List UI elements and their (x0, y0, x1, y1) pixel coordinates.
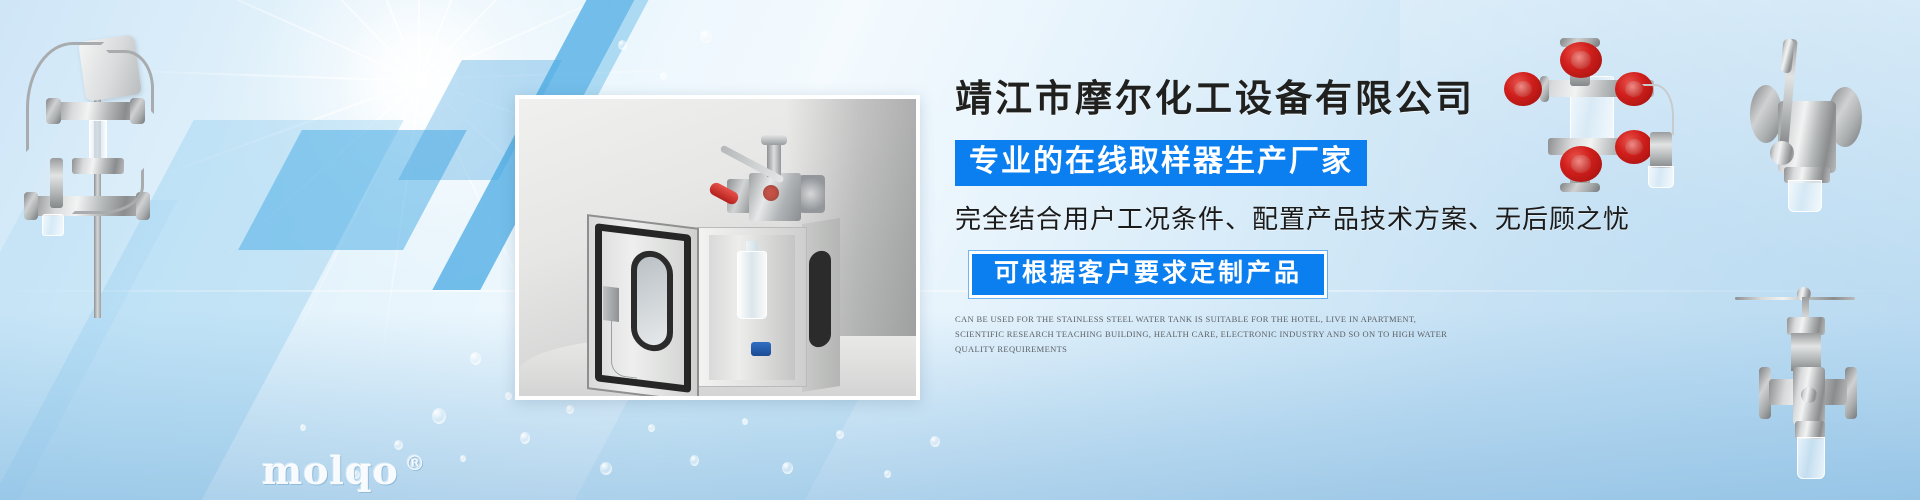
valve-bonnet (1791, 333, 1821, 371)
sample-jar (42, 214, 64, 236)
valve-knob (761, 135, 787, 145)
valve-block-upper (54, 102, 140, 120)
registered-trademark-icon: ® (405, 451, 426, 475)
blue-cap (751, 342, 771, 356)
water-droplet (836, 430, 844, 439)
company-name: 靖江市摩尔化工设备有限公司 (955, 80, 1715, 121)
valve-handle-bar (1735, 297, 1855, 300)
tagline-badge: 专业的在线取样器生产厂家 (955, 140, 1367, 186)
water-droplet (566, 405, 574, 414)
water-droplet (700, 30, 712, 43)
product-pole-mounted-sampler (10, 18, 180, 318)
sight-glass (89, 120, 107, 162)
door-latch (603, 286, 619, 322)
brand-watermark: molqo® (262, 452, 426, 490)
water-droplet (432, 408, 446, 424)
water-droplet (505, 392, 512, 400)
sample-jar (1788, 180, 1822, 212)
water-droplet (884, 470, 891, 478)
water-droplet (930, 436, 940, 447)
product-photo-sampling-cabinet (515, 95, 920, 400)
water-droplet (660, 72, 667, 80)
water-droplet (470, 352, 481, 365)
banner-subtitle: 完全结合用户工况条件、配置产品技术方案、无后顾之忧 (955, 204, 1715, 235)
key-tether (611, 319, 637, 378)
product-lever-sampling-valve (1700, 25, 1910, 235)
water-droplet (600, 462, 612, 475)
valve-badge (1801, 387, 1817, 403)
top-sampling-valve (719, 135, 829, 231)
product-needle-sampling-valve (1745, 275, 1920, 500)
water-droplet (782, 462, 793, 474)
flange (24, 192, 38, 220)
cabinet-side-cutout (809, 249, 831, 348)
english-description: CAN BE USED FOR THE STAINLESS STEEL WATE… (955, 312, 1465, 357)
valve-brand-badge (763, 185, 779, 201)
flange (46, 98, 61, 124)
door-window (631, 248, 673, 353)
custom-product-badge: 可根据客户要求定制产品 (969, 251, 1327, 298)
relief-valve (50, 158, 63, 208)
valve-badge (1770, 141, 1794, 165)
banner-text-block: 靖江市摩尔化工设备有限公司 专业的在线取样器生产厂家 完全结合用户工况条件、配置… (955, 80, 1715, 357)
water-droplet (300, 424, 306, 431)
sample-bottle (737, 251, 767, 319)
water-droplet (618, 40, 627, 50)
flange (130, 98, 145, 124)
promo-banner: 靖江市摩尔化工设备有限公司 专业的在线取样器生产厂家 完全结合用户工况条件、配置… (0, 0, 1920, 500)
water-droplet (520, 432, 530, 444)
sample-jar (1797, 437, 1825, 479)
red-handwheel (1560, 42, 1602, 78)
brand-watermark-text: molqo (262, 448, 399, 493)
water-droplet (742, 418, 748, 425)
water-droplet (690, 455, 699, 466)
valve-flange-right (799, 175, 825, 213)
water-droplet (648, 424, 655, 432)
water-droplet (460, 455, 466, 462)
